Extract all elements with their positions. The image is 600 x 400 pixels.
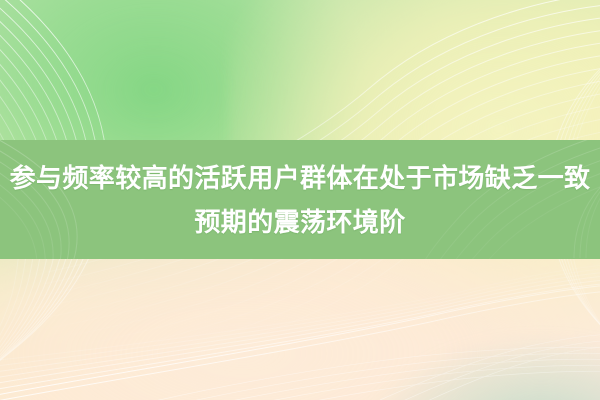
headline-line-2: 预期的震荡环境阶 [194,200,405,244]
headline-line-1: 参与频率较高的活跃用户群体在处于市场缺乏一致 [10,156,591,200]
background-glow-teal [360,336,600,400]
headline-text: 参与频率较高的活跃用户群体在处于市场缺乏一致 预期的震荡环境阶 [0,140,600,259]
banner-image: 参与频率较高的活跃用户群体在处于市场缺乏一致 预期的震荡环境阶 [0,0,600,400]
headline-band: 参与频率较高的活跃用户群体在处于市场缺乏一致 预期的震荡环境阶 [0,140,600,259]
